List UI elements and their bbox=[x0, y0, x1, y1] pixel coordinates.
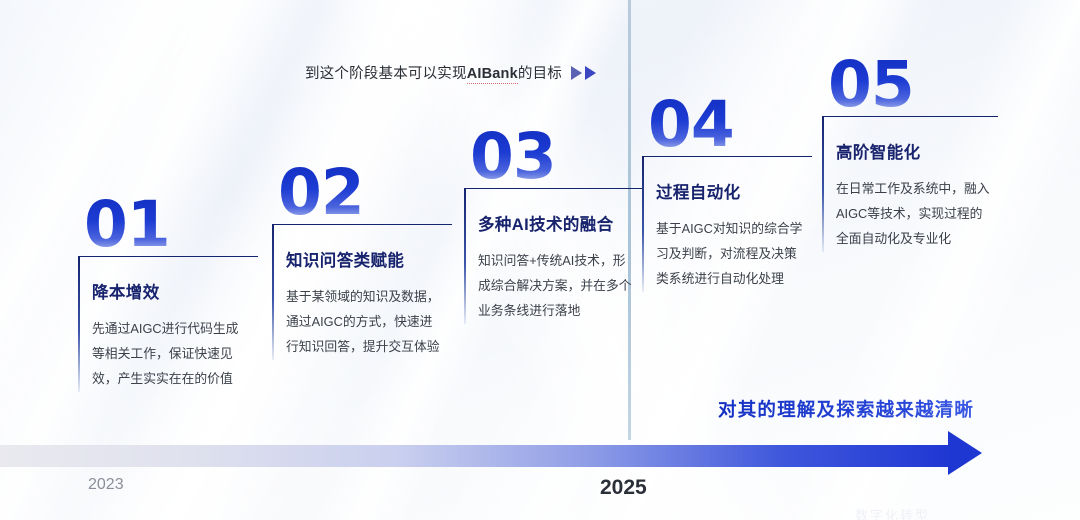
stage-number: 01 bbox=[84, 196, 258, 254]
annotation-highlight: AIBank bbox=[467, 66, 518, 84]
stage-number: 04 bbox=[648, 96, 812, 154]
stage-frame: 知识问答类赋能 基于某领域的知识及数据，通过AIGC的方式，快速进行知识回答，提… bbox=[272, 224, 452, 360]
annotation-text: 到这个阶段基本可以实现AIBank的目标 bbox=[305, 62, 562, 83]
stage-number: 02 bbox=[278, 164, 452, 222]
tagline-text: 对其的理解及探索越来越清晰 bbox=[718, 396, 974, 422]
infographic-canvas: 到这个阶段基本可以实现AIBank的目标 01 降本增效 先通过AIGC进行代码… bbox=[0, 0, 1080, 520]
stage-number: 05 bbox=[828, 56, 998, 114]
timeline-bar bbox=[0, 445, 953, 467]
stage-description: 基于AIGC对知识的综合学习及判断，对流程及决策类系统进行自动化处理 bbox=[656, 217, 804, 292]
stage-card-03[interactable]: 03 多种AI技术的融合 知识问答+传统AI技术，形成综合解决方案，并在多个业务… bbox=[464, 128, 644, 324]
stage-title: 过程自动化 bbox=[656, 179, 804, 203]
arrow-right-icon bbox=[948, 431, 982, 475]
stage-frame: 过程自动化 基于AIGC对知识的综合学习及判断，对流程及决策类系统进行自动化处理 bbox=[642, 156, 812, 292]
stage-description: 先通过AIGC进行代码生成等相关工作，保证快速见效，产生实实在在的价值 bbox=[92, 317, 250, 392]
stage-card-01[interactable]: 01 降本增效 先通过AIGC进行代码生成等相关工作，保证快速见效，产生实实在在… bbox=[78, 196, 258, 392]
timeline-end-year: 2025 bbox=[600, 476, 647, 500]
stage-frame: 降本增效 先通过AIGC进行代码生成等相关工作，保证快速见效，产生实实在在的价值 bbox=[78, 256, 258, 392]
annotation-suffix: 的目标 bbox=[518, 66, 562, 82]
stage-title: 高阶智能化 bbox=[836, 139, 990, 163]
annotation-callout: 到这个阶段基本可以实现AIBank的目标 bbox=[305, 62, 596, 83]
annotation-prefix: 到这个阶段基本可以实现 bbox=[305, 66, 467, 82]
stage-card-05[interactable]: 05 高阶智能化 在日常工作及系统中，融入AIGC等技术，实现过程的全面自动化及… bbox=[822, 56, 998, 252]
stage-title: 多种AI技术的融合 bbox=[478, 211, 636, 235]
stage-title: 降本增效 bbox=[92, 279, 250, 303]
footer-ghost-text: 数字化转型 bbox=[855, 505, 930, 520]
timeline-start-year: 2023 bbox=[88, 476, 124, 494]
stage-description: 基于某领域的知识及数据，通过AIGC的方式，快速进行知识回答，提升交互体验 bbox=[286, 285, 444, 360]
timeline bbox=[0, 437, 1080, 483]
double-chevron-right-icon bbox=[571, 66, 596, 80]
stage-frame: 高阶智能化 在日常工作及系统中，融入AIGC等技术，实现过程的全面自动化及专业化 bbox=[822, 116, 998, 252]
stage-frame: 多种AI技术的融合 知识问答+传统AI技术，形成综合解决方案，并在多个业务条线进… bbox=[464, 188, 644, 324]
stage-card-04[interactable]: 04 过程自动化 基于AIGC对知识的综合学习及判断，对流程及决策类系统进行自动… bbox=[642, 96, 812, 292]
stage-number: 03 bbox=[470, 128, 644, 186]
stage-description: 知识问答+传统AI技术，形成综合解决方案，并在多个业务条线进行落地 bbox=[478, 249, 636, 324]
stage-description: 在日常工作及系统中，融入AIGC等技术，实现过程的全面自动化及专业化 bbox=[836, 177, 990, 252]
stage-title: 知识问答类赋能 bbox=[286, 247, 444, 271]
stage-card-02[interactable]: 02 知识问答类赋能 基于某领域的知识及数据，通过AIGC的方式，快速进行知识回… bbox=[272, 164, 452, 360]
